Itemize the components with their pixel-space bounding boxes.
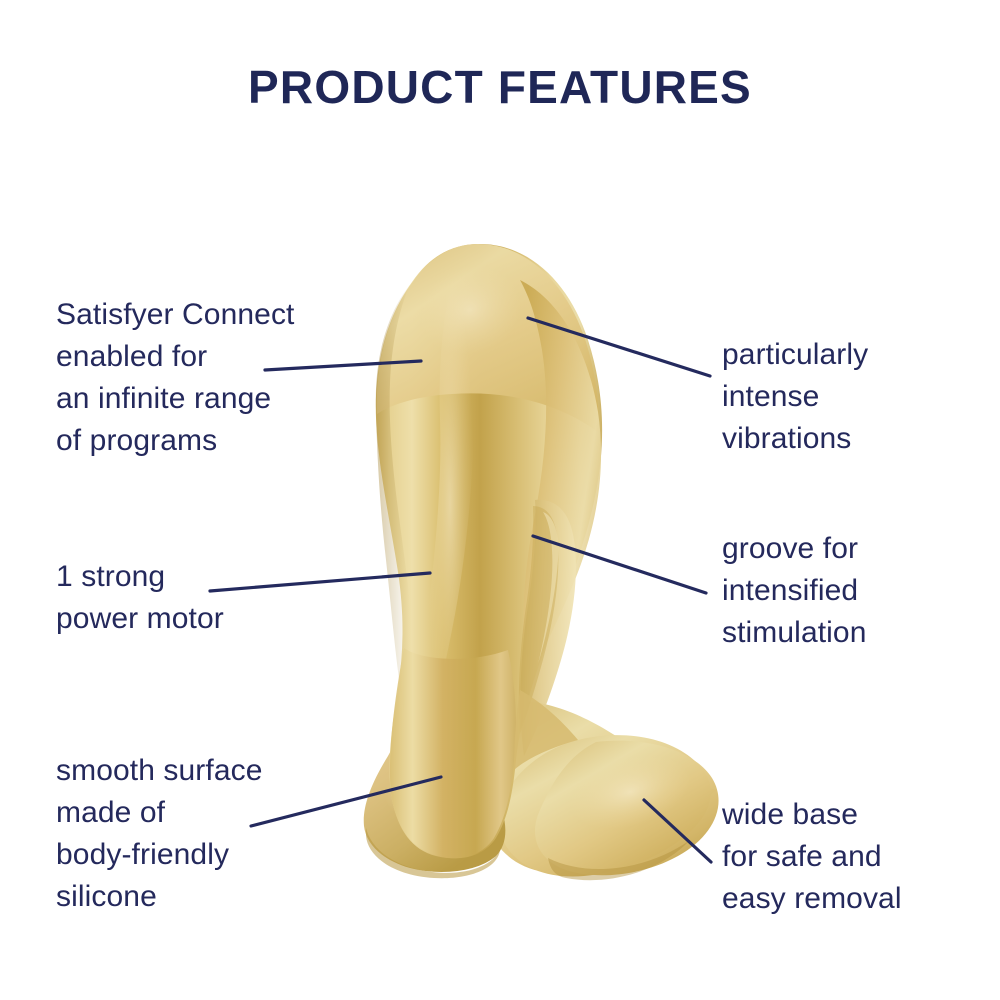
callout-line: intensified — [722, 570, 867, 612]
callout-line: made of — [56, 792, 263, 834]
callout-line: for safe and — [722, 836, 902, 878]
callout-line: intense — [722, 376, 868, 418]
callout-line: groove for — [722, 528, 867, 570]
callout-line: vibrations — [722, 418, 868, 460]
callout-line: particularly — [722, 334, 868, 376]
callout-line: an infinite range — [56, 378, 294, 420]
callout-satisfyer-connect: Satisfyer Connect enabled for an infinit… — [56, 294, 294, 462]
product-features-infographic: PRODUCT FEATURES — [0, 0, 1000, 1000]
callout-line: power motor — [56, 598, 224, 640]
callout-line: of programs — [56, 420, 294, 462]
callout-line: easy removal — [722, 878, 902, 920]
callout-power-motor: 1 strong power motor — [56, 556, 224, 640]
callout-line: Satisfyer Connect — [56, 294, 294, 336]
callout-line: silicone — [56, 876, 263, 918]
callout-wide-base: wide base for safe and easy removal — [722, 794, 902, 920]
callout-line: stimulation — [722, 612, 867, 654]
callout-smooth-surface: smooth surface made of body-friendly sil… — [56, 750, 263, 918]
callout-groove-stimulation: groove for intensified stimulation — [722, 528, 867, 654]
callout-line: smooth surface — [56, 750, 263, 792]
callout-line: body-friendly — [56, 834, 263, 876]
callout-line: 1 strong — [56, 556, 224, 598]
callout-line: wide base — [722, 794, 902, 836]
callout-intense-vibrations: particularly intense vibrations — [722, 334, 868, 460]
callout-line: enabled for — [56, 336, 294, 378]
